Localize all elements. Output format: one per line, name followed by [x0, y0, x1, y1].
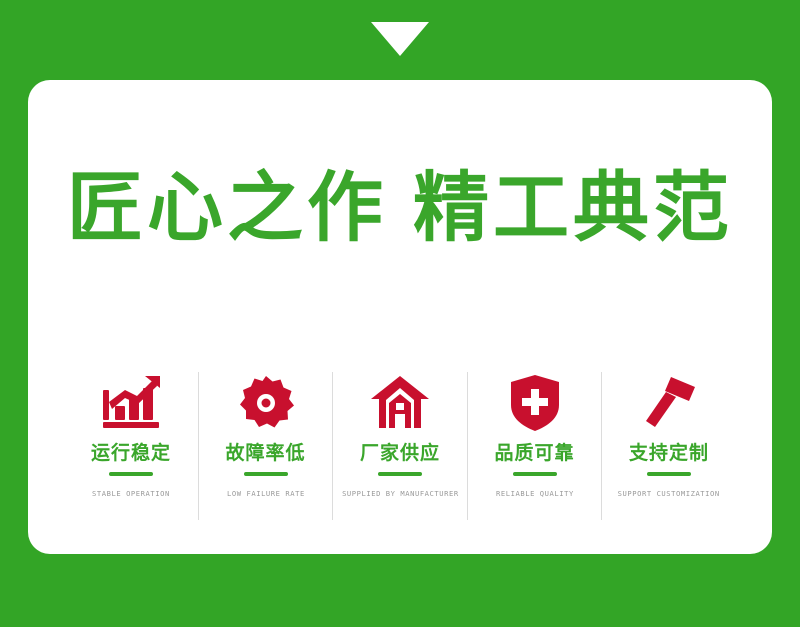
feature-underline	[378, 472, 422, 476]
hammer-icon	[641, 372, 697, 434]
feature-item-supplied-by-manufacturer: 厂家供应 SUPPLIED BY MANUFACTURER	[333, 372, 467, 524]
page-title: 匠心之作精工典范	[28, 170, 772, 246]
headline-right: 精工典范	[413, 163, 733, 252]
feature-item-reliable-quality: 品质可靠 RELIABLE QUALITY	[468, 372, 602, 524]
chevron-down-icon	[371, 22, 429, 56]
growth-chart-icon	[101, 372, 161, 434]
feature-subtitle: SUPPLIED BY MANUFACTURER	[342, 490, 459, 498]
gear-icon	[238, 372, 294, 434]
feature-title: 支持定制	[629, 444, 709, 463]
feature-underline	[244, 472, 288, 476]
feature-title: 厂家供应	[360, 444, 440, 463]
feature-underline	[647, 472, 691, 476]
promo-banner: 匠心之作精工典范	[0, 0, 800, 627]
headline-left: 匠心之作	[67, 163, 387, 252]
feature-underline	[513, 472, 557, 476]
feature-subtitle: STABLE OPERATION	[92, 490, 170, 498]
feature-title: 故障率低	[225, 444, 305, 463]
content-card: 匠心之作精工典范	[28, 80, 772, 554]
chevron-down-container	[0, 22, 800, 66]
feature-item-support-customization: 支持定制 SUPPORT CUSTOMIZATION	[602, 372, 736, 524]
feature-item-stable-operation: 运行稳定 STABLE OPERATION	[64, 372, 198, 524]
shield-check-icon	[511, 372, 559, 434]
feature-title: 品质可靠	[494, 444, 574, 463]
factory-house-icon	[371, 372, 429, 434]
feature-title: 运行稳定	[91, 444, 171, 463]
feature-underline	[109, 472, 153, 476]
feature-subtitle: LOW FAILURE RATE	[227, 490, 305, 498]
feature-list: 运行稳定 STABLE OPERATION 故障率低 LOW FAILU	[64, 372, 736, 524]
feature-subtitle: RELIABLE QUALITY	[496, 490, 574, 498]
feature-item-low-failure-rate: 故障率低 LOW FAILURE RATE	[199, 372, 333, 524]
feature-subtitle: SUPPORT CUSTOMIZATION	[618, 490, 720, 498]
